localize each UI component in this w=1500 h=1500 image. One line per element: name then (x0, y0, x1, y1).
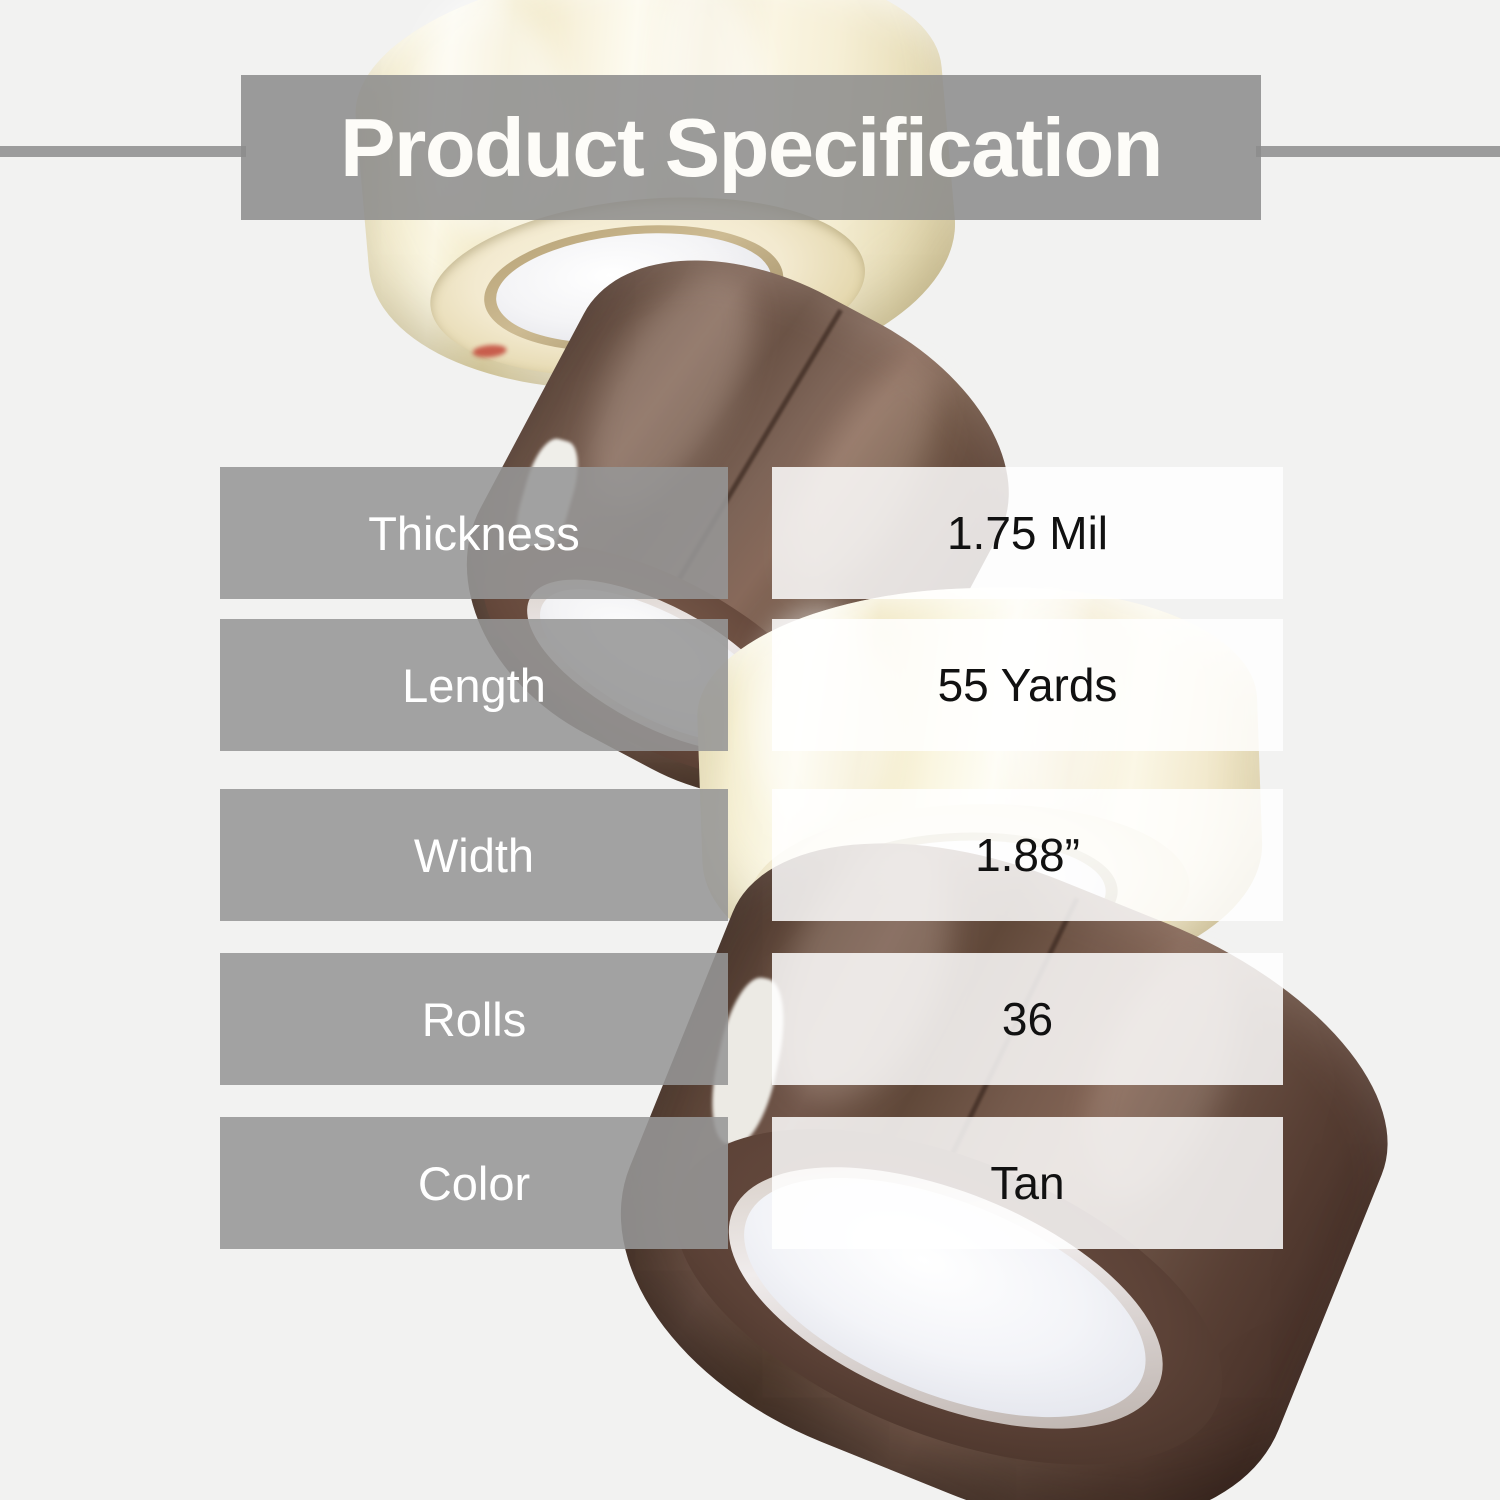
spec-label-cell-thickness: Thickness (220, 467, 728, 599)
spec-label-cell-length: Length (220, 619, 728, 751)
table-row: Length 55 Yards (0, 619, 1500, 751)
product-specification-infographic: Product Specification Thickness 1.75 Mil… (0, 0, 1500, 1500)
spec-value-cell-thickness: 1.75 Mil (772, 467, 1283, 599)
spec-label: Color (418, 1160, 530, 1207)
spec-label-cell-width: Width (220, 789, 728, 921)
spec-value-cell-rolls: 36 (772, 953, 1283, 1085)
spec-label-cell-color: Color (220, 1117, 728, 1249)
table-row: Rolls 36 (0, 953, 1500, 1085)
spec-label-cell-rolls: Rolls (220, 953, 728, 1085)
spec-value: 1.75 Mil (947, 510, 1108, 556)
spec-label: Length (402, 662, 546, 709)
spec-value: 36 (1002, 996, 1053, 1042)
spec-label: Width (414, 832, 534, 879)
spec-value-cell-length: 55 Yards (772, 619, 1283, 751)
table-row: Width 1.88” (0, 789, 1500, 921)
spec-value: Tan (990, 1160, 1064, 1206)
spec-value: 55 Yards (938, 662, 1118, 708)
spec-label: Rolls (422, 996, 526, 1043)
spec-value-cell-width: 1.88” (772, 789, 1283, 921)
specification-table: Thickness 1.75 Mil Length 55 Yards Width… (0, 0, 1500, 1500)
spec-value: 1.88” (975, 832, 1080, 878)
table-row: Thickness 1.75 Mil (0, 467, 1500, 599)
table-row: Color Tan (0, 1117, 1500, 1249)
spec-value-cell-color: Tan (772, 1117, 1283, 1249)
spec-label: Thickness (368, 510, 580, 557)
